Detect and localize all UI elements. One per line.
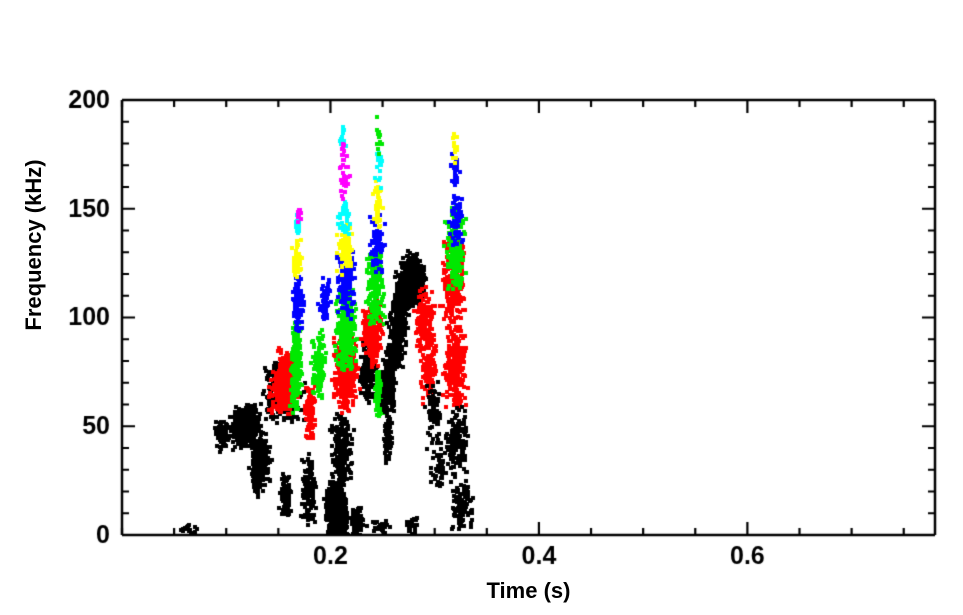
spectrum-plot-canvas — [0, 0, 963, 615]
x-axis-title: Time (s) — [122, 578, 935, 604]
y-axis-title: Frequency (kHz) — [21, 145, 47, 345]
spectrum-figure: Shot 119874 ωB(ω) spectrum for toroidal … — [0, 0, 963, 615]
